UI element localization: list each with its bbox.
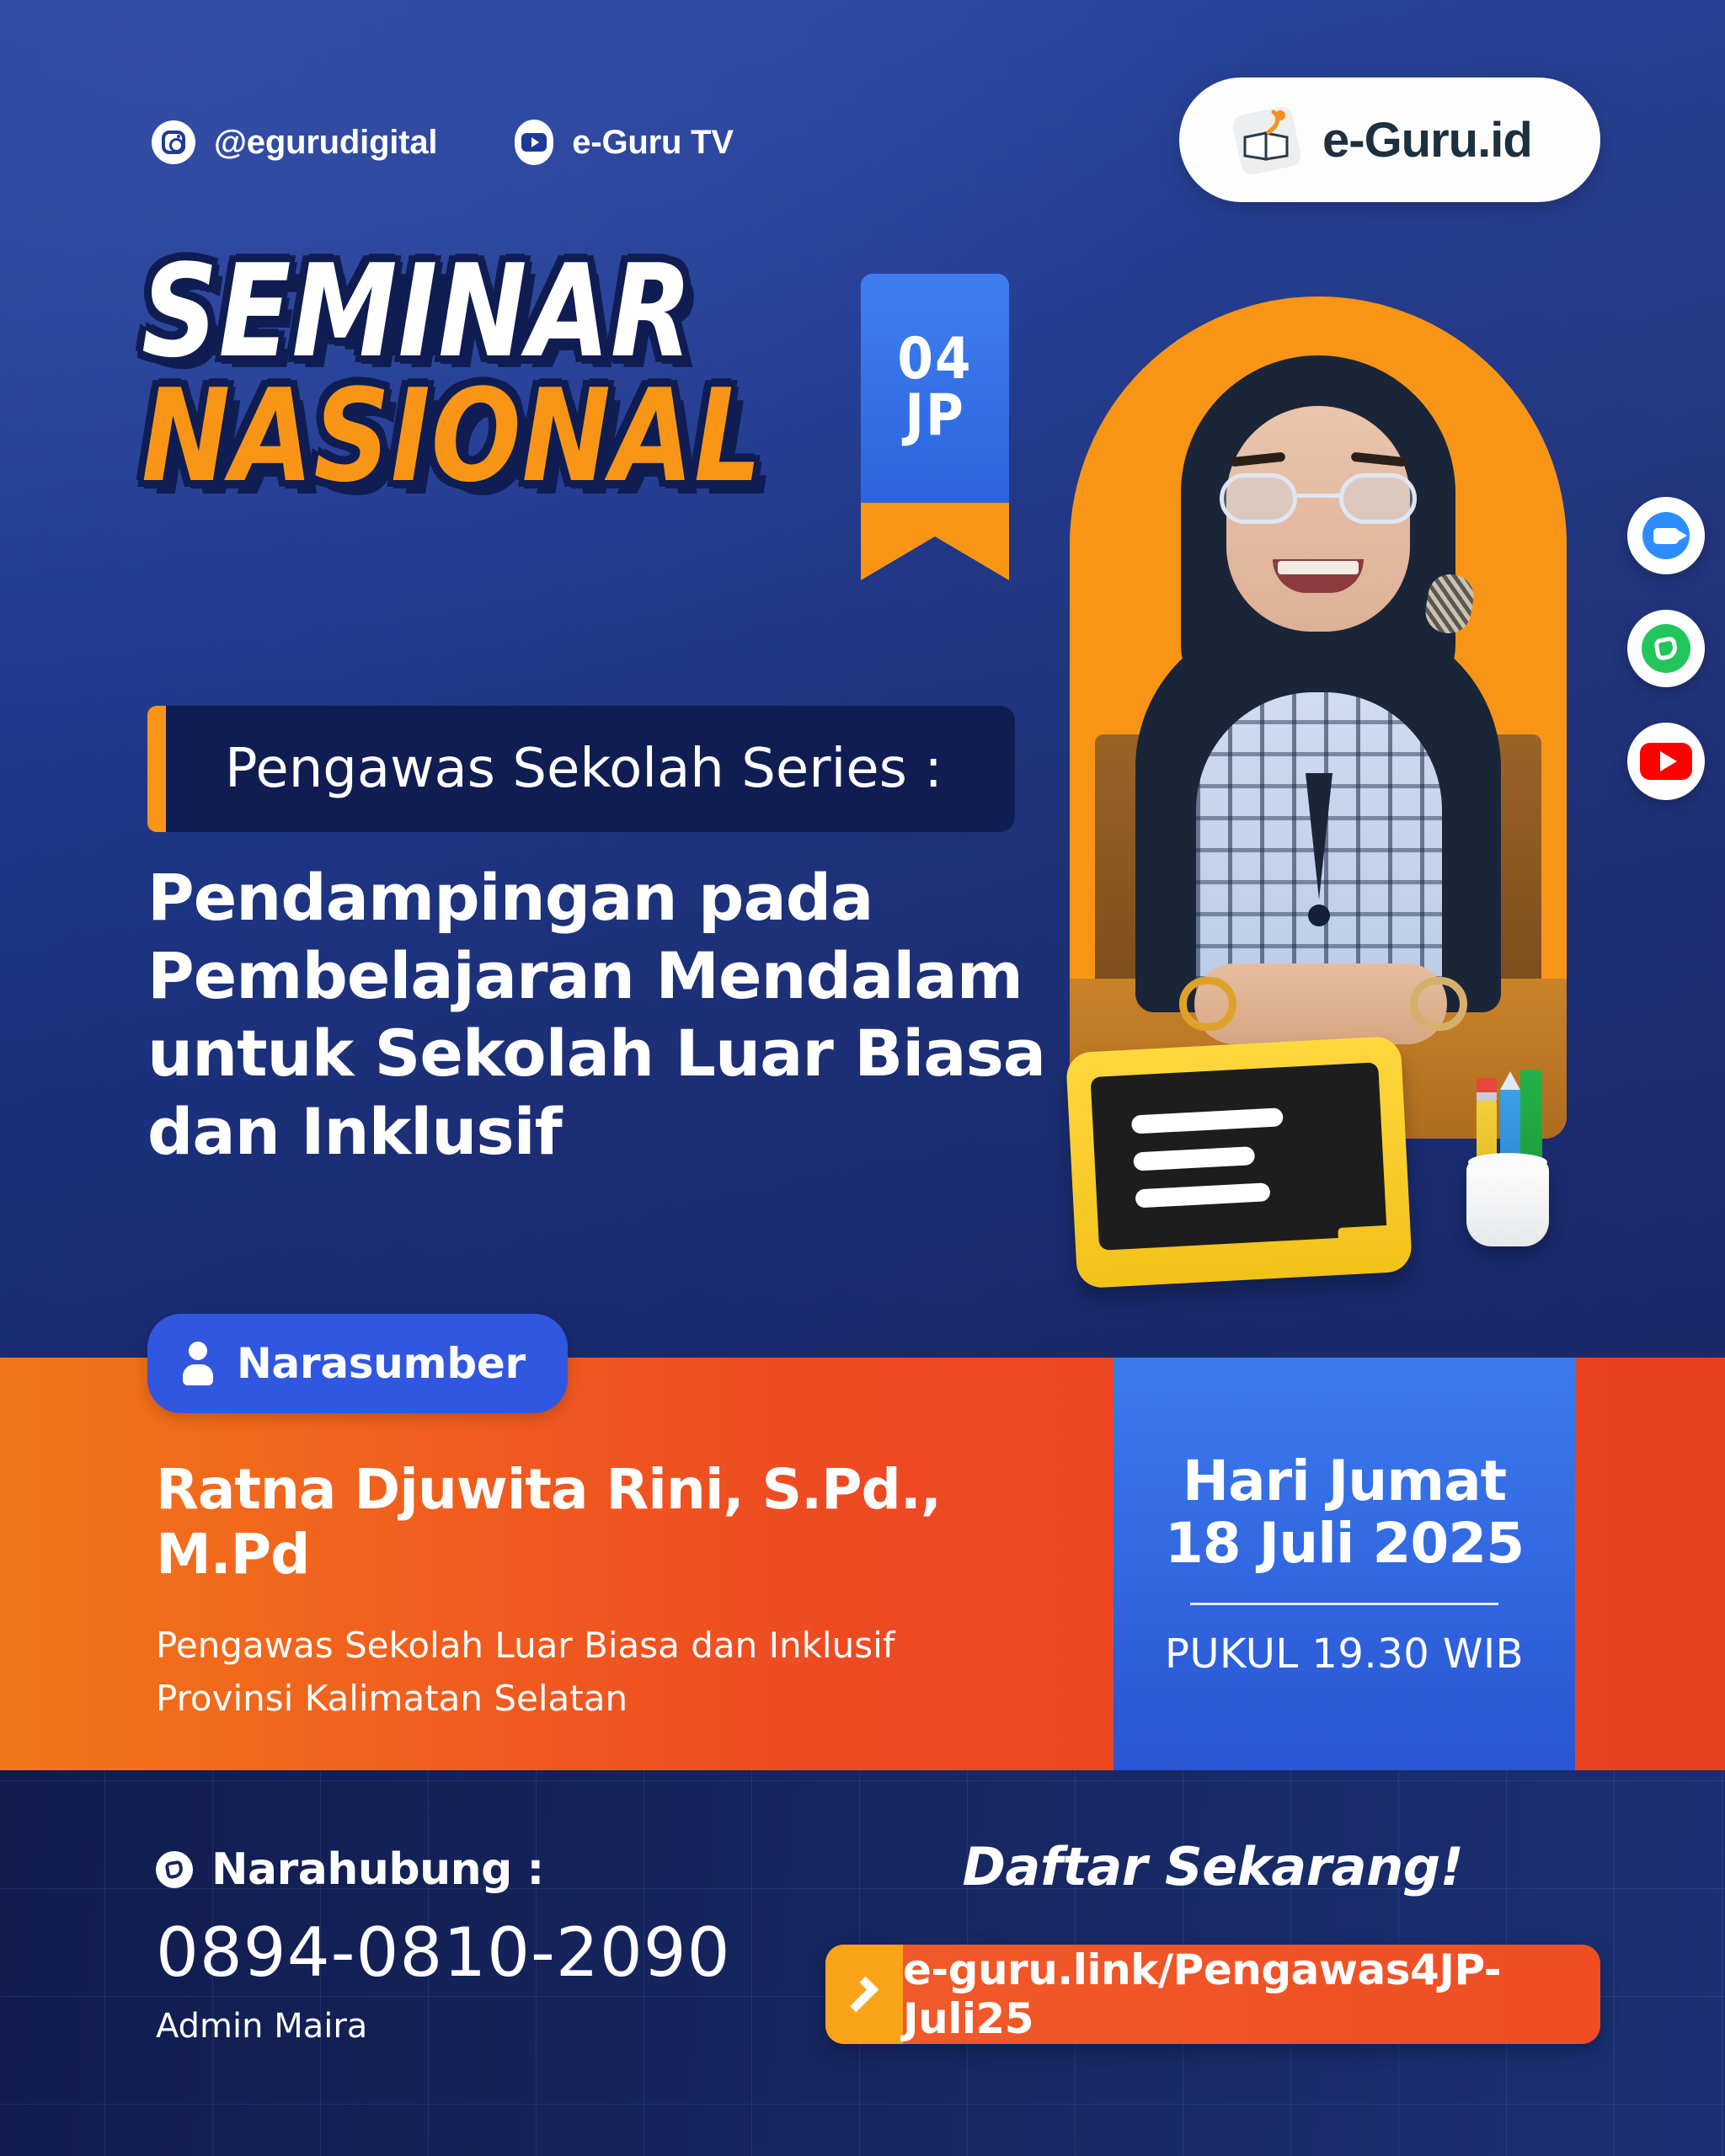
header-social-row: @egurudigital e-Guru TV xyxy=(152,120,734,165)
register-url: e-guru.link/Pengawas4JP-Juli25 xyxy=(903,1945,1600,2044)
ribbon-tail-icon xyxy=(861,503,1009,580)
book-logo-icon xyxy=(1231,104,1304,176)
narasumber-badge: Narasumber xyxy=(147,1314,568,1413)
contact-admin-name: Admin Maira xyxy=(156,2007,731,2046)
schedule-panel: Hari Jumat 18 Juli 2025 PUKUL 19.30 WIB xyxy=(1114,1358,1575,1770)
pencil-cup-icon xyxy=(1461,1095,1554,1246)
headline-line-2: Pembelajaran Mendalam xyxy=(147,937,1082,1016)
series-accent-bar xyxy=(147,706,166,832)
headline-line-1: Pendampingan pada xyxy=(147,859,1082,937)
whatsapp-icon[interactable] xyxy=(1627,610,1705,687)
contact-block: Narahubung : 0894-0810-2090 Admin Maira xyxy=(156,1844,731,2046)
schedule-time: PUKUL 19.30 WIB xyxy=(1165,1630,1524,1678)
cta-block: Daftar Sekarang! e-guru.link/Pengawas4JP… xyxy=(825,1836,1600,2044)
brand-name: e-Guru.id xyxy=(1322,112,1532,168)
instagram-icon xyxy=(152,120,195,164)
speaker-info: Ratna Djuwita Rini, S.Pd., M.Pd Pengawas… xyxy=(156,1457,1074,1722)
chevron-right-icon xyxy=(825,1945,903,2044)
speaker-photo xyxy=(1070,296,1567,1139)
jp-badge-ribbon: 04 JP xyxy=(861,274,1009,577)
brand-logo-pill[interactable]: e-Guru.id xyxy=(1179,77,1600,202)
narasumber-label: Narasumber xyxy=(237,1339,526,1388)
whatsapp-icon xyxy=(156,1851,193,1888)
speaker-role-line-1: Pengawas Sekolah Luar Biasa dan Inklusif xyxy=(156,1622,1074,1670)
series-chip: Pengawas Sekolah Series : xyxy=(147,706,1015,832)
series-label: Pengawas Sekolah Series : xyxy=(225,738,943,800)
cta-heading: Daftar Sekarang! xyxy=(825,1836,1600,1897)
poster-title: SEMINAR NASIONAL xyxy=(142,253,816,495)
platform-bubble-list xyxy=(1627,497,1705,800)
register-button[interactable]: e-guru.link/Pengawas4JP-Juli25 xyxy=(825,1945,1600,2044)
social-youtube[interactable]: e-Guru TV xyxy=(515,120,734,165)
youtube-handle: e-Guru TV xyxy=(572,124,734,162)
speaker-role-line-2: Provinsi Kalimatan Selatan xyxy=(156,1675,1074,1723)
youtube-icon[interactable] xyxy=(1627,723,1705,800)
headline-line-4: dan Inklusif xyxy=(147,1093,1082,1171)
person-icon xyxy=(181,1342,215,1385)
instagram-handle: @egurudigital xyxy=(214,124,437,162)
title-line-seminar: SEMINAR xyxy=(142,253,762,371)
speaker-name: Ratna Djuwita Rini, S.Pd., M.Pd xyxy=(156,1457,1074,1587)
youtube-icon xyxy=(515,120,553,165)
headline-block: Pendampingan pada Pembelajaran Mendalam … xyxy=(147,859,1082,1171)
zoom-icon[interactable] xyxy=(1627,497,1705,574)
poster-canvas: @egurudigital e-Guru TV e-Guru.id SEMINA… xyxy=(0,0,1725,2156)
schedule-date: 18 Juli 2025 xyxy=(1165,1513,1524,1575)
headline-line-3: untuk Sekolah Luar Biasa xyxy=(147,1015,1082,1093)
photo-arch-background xyxy=(1070,296,1567,1139)
jp-unit: JP xyxy=(905,388,965,443)
schedule-divider xyxy=(1190,1603,1498,1605)
contact-phone[interactable]: 0894-0810-2090 xyxy=(156,1913,731,1992)
chalkboard-icon xyxy=(1065,1036,1413,1289)
jp-number: 04 xyxy=(897,332,972,387)
schedule-day: Hari Jumat xyxy=(1183,1450,1506,1513)
eyeglasses-icon xyxy=(1220,473,1417,526)
contact-title: Narahubung : xyxy=(211,1844,544,1895)
social-instagram[interactable]: @egurudigital xyxy=(152,120,437,164)
title-line-nasional: NASIONAL xyxy=(142,377,762,495)
